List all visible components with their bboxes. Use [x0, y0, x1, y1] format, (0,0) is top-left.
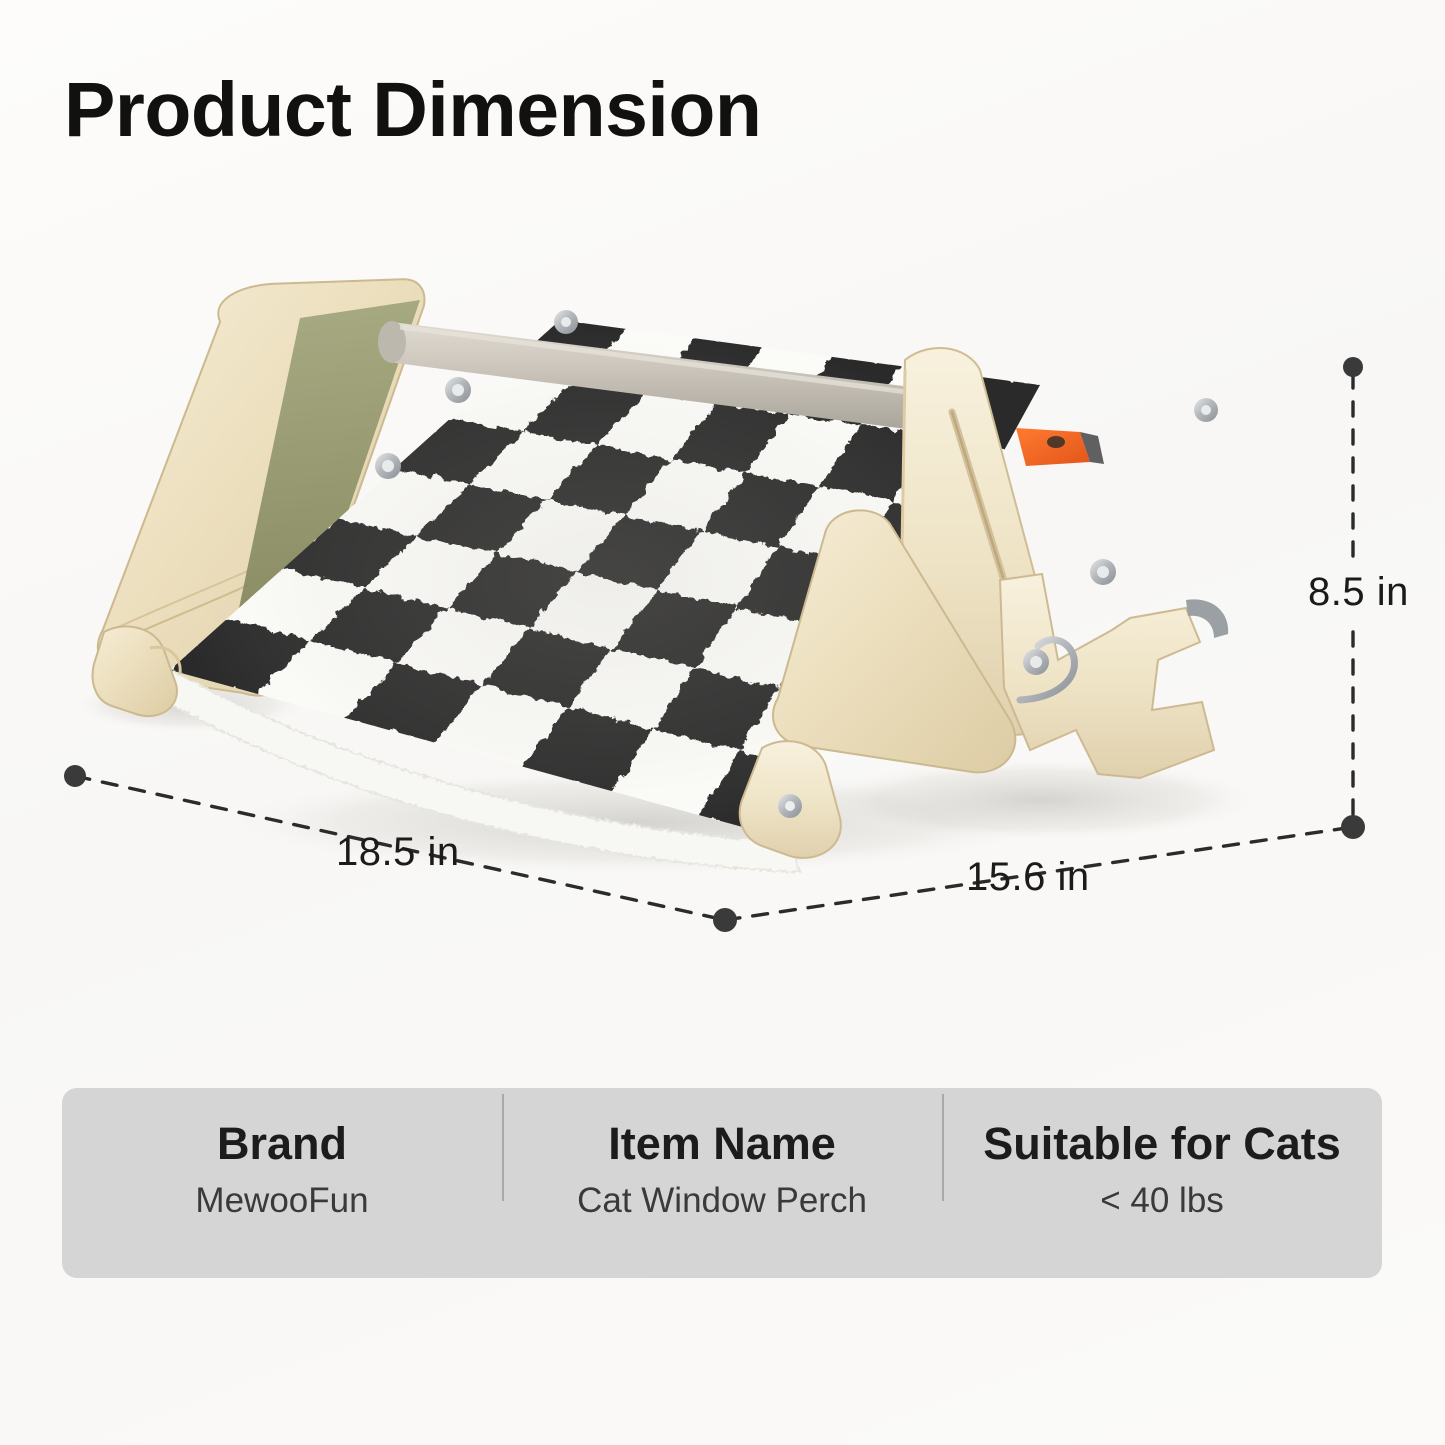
infographic-canvas: Product Dimension	[0, 0, 1445, 1445]
product-illustration	[0, 200, 1445, 930]
info-column-item-name: Item Name Cat Window Perch	[502, 1088, 942, 1222]
product-info-bar: Brand MewooFun Item Name Cat Window Perc…	[62, 1088, 1382, 1278]
info-column-suitable-for-cats: Suitable for Cats < 40 lbs	[942, 1088, 1382, 1222]
page-title: Product Dimension	[64, 72, 761, 149]
height-label: 8.5 in	[1308, 570, 1409, 615]
depth-label: 15.6 in	[966, 855, 1090, 900]
width-label: 18.5 in	[336, 830, 460, 875]
product-image	[0, 200, 1445, 930]
info-value-item-name: Cat Window Perch	[577, 1181, 867, 1221]
info-heading-suitable: Suitable for Cats	[983, 1119, 1341, 1169]
info-column-brand: Brand MewooFun	[62, 1088, 502, 1222]
info-value-suitable: < 40 lbs	[1100, 1181, 1224, 1221]
window-sill-bracket	[1000, 574, 1228, 778]
orange-brand-tab	[1016, 428, 1104, 466]
info-heading-item-name: Item Name	[608, 1119, 836, 1169]
info-heading-brand: Brand	[217, 1119, 347, 1169]
info-value-brand: MewooFun	[195, 1181, 368, 1221]
